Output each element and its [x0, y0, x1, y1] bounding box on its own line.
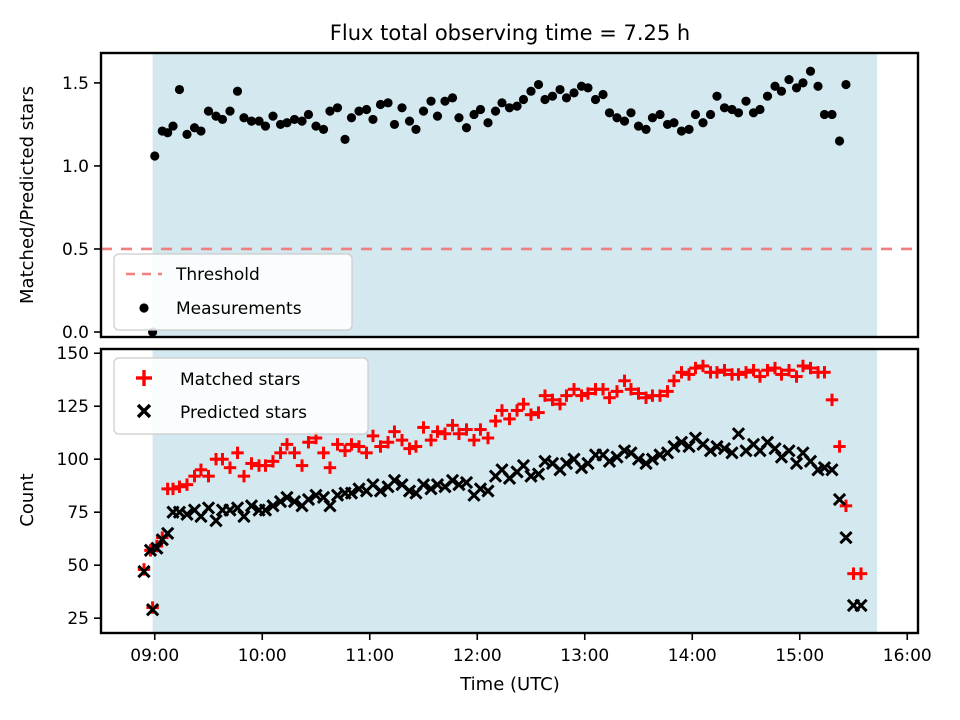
y-tick-label: 1.0 — [62, 157, 89, 177]
data-point — [548, 92, 557, 101]
data-point — [620, 116, 629, 125]
predicted-stars-legend-label: Predicted stars — [180, 403, 307, 423]
data-point — [512, 102, 521, 111]
top-panel: 0.00.51.01.5 Matched/Predicted stars Thr… — [17, 0, 918, 343]
data-point — [196, 126, 205, 135]
x-tick-label: 14:00 — [668, 646, 717, 666]
y-tick-label: 50 — [67, 556, 89, 576]
data-point — [849, 0, 858, 5]
y-tick-label: 0.0 — [62, 323, 89, 343]
x-tick-label: 15:00 — [775, 646, 824, 666]
data-point — [233, 87, 242, 96]
top-legend: Threshold Measurements — [114, 254, 352, 330]
data-point — [777, 87, 786, 96]
x-tick-label: 09:00 — [130, 646, 179, 666]
data-point — [204, 107, 213, 116]
y-tick-label: 25 — [67, 609, 89, 629]
threshold-legend-label: Threshold — [175, 265, 260, 285]
data-point — [669, 118, 678, 127]
y-tick-label: 150 — [57, 344, 89, 364]
data-point — [806, 67, 815, 76]
data-point — [433, 112, 442, 121]
data-point — [462, 123, 471, 132]
data-point — [691, 110, 700, 119]
bottom-x-axis-label: Time (UTC) — [459, 674, 560, 695]
data-point — [297, 116, 306, 125]
data-point — [150, 151, 159, 160]
data-point — [497, 98, 506, 107]
data-point — [218, 115, 227, 124]
data-point — [813, 82, 822, 91]
data-point — [827, 110, 836, 119]
data-point — [712, 92, 721, 101]
data-point — [698, 118, 707, 127]
data-point — [684, 125, 693, 134]
data-point — [340, 135, 349, 144]
data-point — [583, 83, 592, 92]
bottom-x-tick-group: 09:0010:0011:0012:0013:0014:0015:0016:00 — [130, 633, 932, 666]
bottom-y-tick-group: 255075100125150 — [57, 344, 101, 629]
data-point — [741, 97, 750, 106]
measurements-legend-label: Measurements — [176, 299, 302, 319]
data-point — [841, 80, 850, 89]
top-y-axis-label: Matched/Predicted stars — [17, 86, 38, 304]
data-point — [519, 95, 528, 104]
data-point — [598, 90, 607, 99]
bottom-legend: Matched stars Predicted stars — [114, 358, 368, 434]
data-point — [569, 88, 578, 97]
y-tick-label: 1.5 — [62, 74, 89, 94]
data-point — [863, 0, 872, 5]
data-point — [798, 78, 807, 87]
data-point — [476, 105, 485, 114]
data-point — [641, 125, 650, 134]
data-point — [347, 113, 356, 122]
bottom-y-axis-label: Count — [17, 473, 38, 526]
data-point — [175, 85, 184, 94]
data-point — [319, 125, 328, 134]
data-point — [225, 107, 234, 116]
data-point — [426, 97, 435, 106]
data-point — [390, 120, 399, 129]
data-point — [362, 105, 371, 114]
data-point — [755, 105, 764, 114]
data-point — [405, 116, 414, 125]
data-point — [419, 107, 428, 116]
y-tick-label: 0.5 — [62, 240, 89, 260]
data-point — [555, 85, 564, 94]
matched-stars-legend-label: Matched stars — [180, 370, 300, 390]
data-point — [734, 108, 743, 117]
x-tick-label: 11:00 — [345, 646, 394, 666]
data-point — [182, 130, 191, 139]
data-point — [856, 0, 865, 5]
data-point — [268, 112, 277, 121]
data-point — [763, 92, 772, 101]
data-point — [605, 108, 614, 117]
data-point — [411, 125, 420, 134]
data-point — [626, 108, 635, 117]
data-point — [491, 107, 500, 116]
data-point — [304, 110, 313, 119]
data-point — [784, 75, 793, 84]
data-point — [383, 98, 392, 107]
data-point — [870, 0, 879, 5]
data-point — [368, 115, 377, 124]
data-point — [591, 95, 600, 104]
data-point — [397, 103, 406, 112]
y-tick-label: 100 — [57, 450, 89, 470]
x-tick-label: 13:00 — [560, 646, 609, 666]
data-point — [706, 110, 715, 119]
y-tick-label: 125 — [57, 397, 89, 417]
data-point — [168, 121, 177, 130]
data-point — [534, 80, 543, 89]
x-tick-label: 12:00 — [453, 646, 502, 666]
figure-canvas: Flux total observing time = 7.25 h 0.00.… — [0, 0, 960, 720]
y-tick-label: 75 — [67, 503, 89, 523]
top-y-tick-group: 0.00.51.01.5 — [62, 74, 101, 343]
matplotlib-figure: Flux total observing time = 7.25 h 0.00.… — [0, 0, 960, 720]
data-point — [483, 118, 492, 127]
measurements-legend-swatch — [139, 303, 148, 312]
data-point — [454, 113, 463, 122]
figure-title: Flux total observing time = 7.25 h — [330, 21, 690, 45]
x-tick-label: 10:00 — [238, 646, 287, 666]
data-point — [562, 93, 571, 102]
x-tick-label: 16:00 — [883, 646, 932, 666]
data-point — [448, 93, 457, 102]
data-point — [261, 121, 270, 130]
data-point — [835, 136, 844, 145]
data-point — [655, 110, 664, 119]
data-point — [333, 103, 342, 112]
data-point — [526, 87, 535, 96]
